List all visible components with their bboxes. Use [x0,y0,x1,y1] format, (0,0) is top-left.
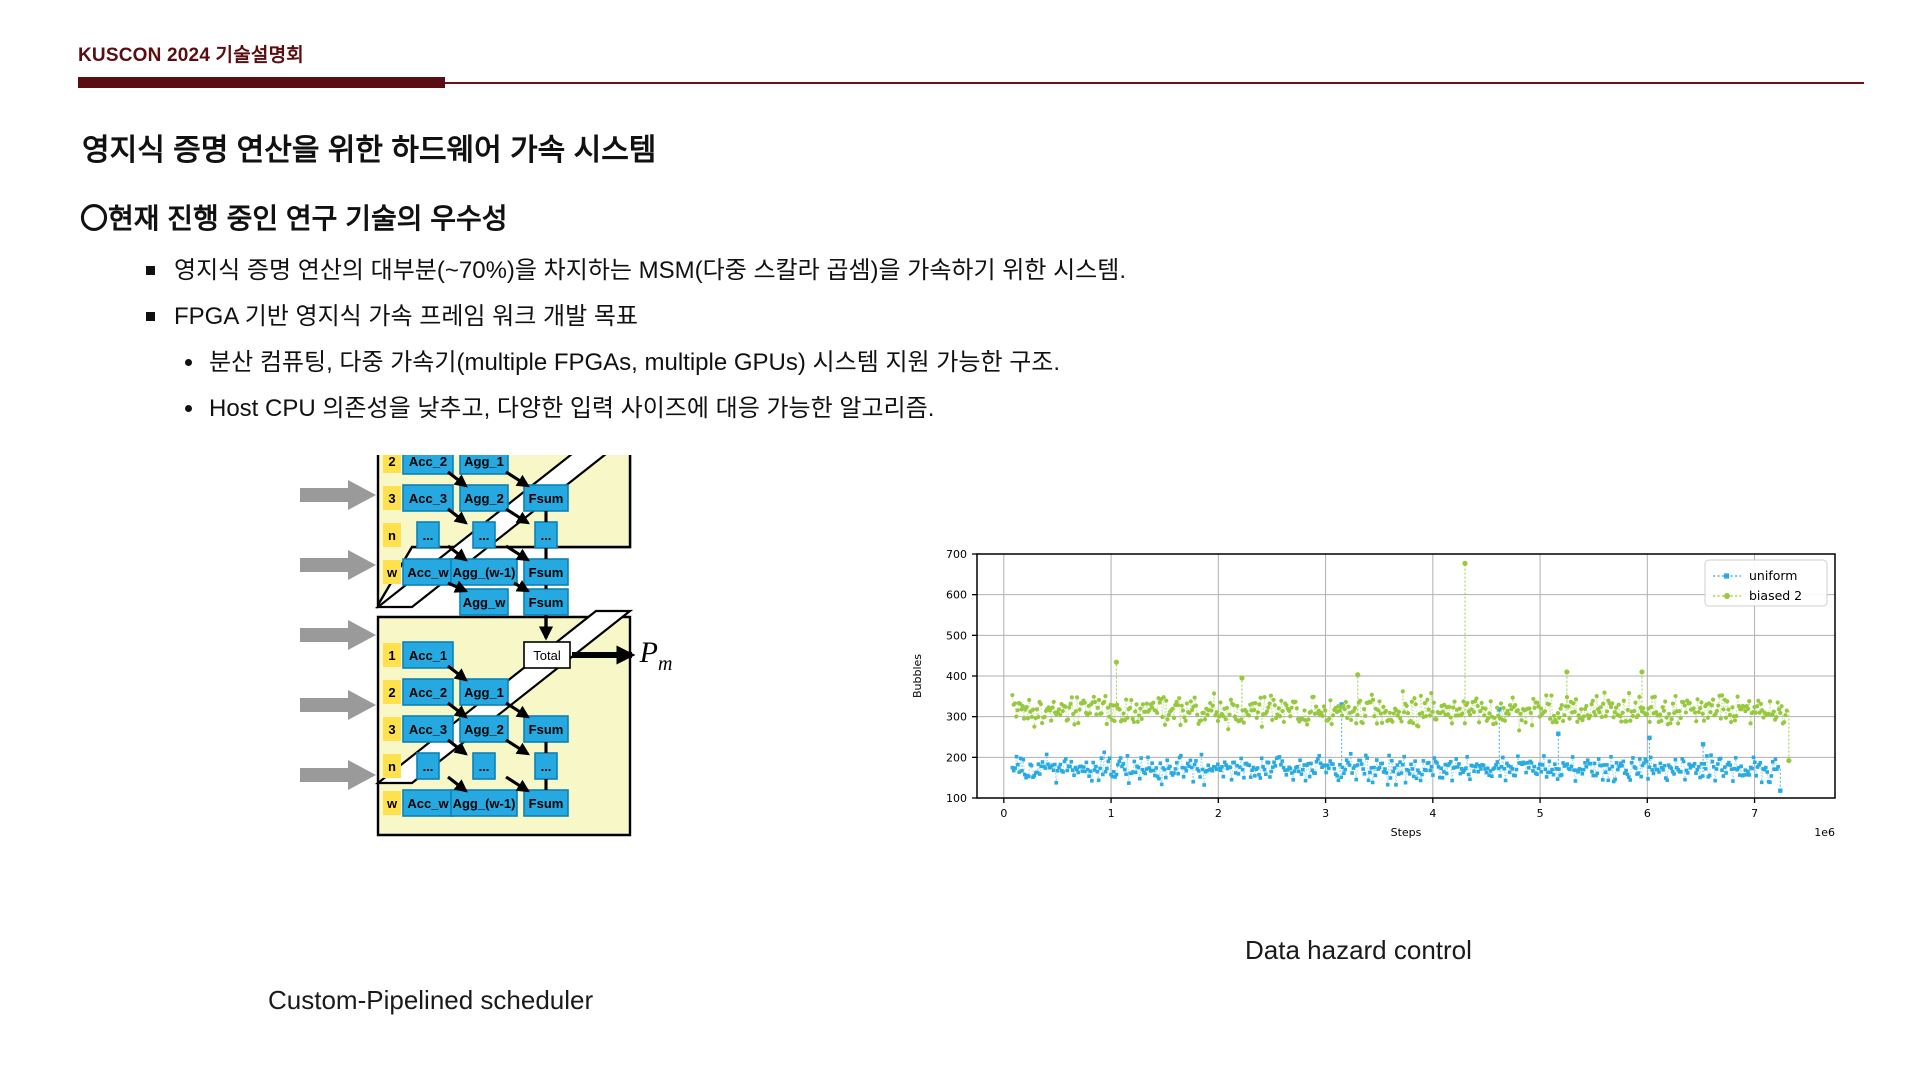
data-point [1624,769,1628,773]
data-point [1339,775,1343,779]
data-point [1257,702,1261,706]
spike-point-3 [1647,736,1651,740]
data-point [1266,705,1270,709]
data-point [1094,712,1098,716]
data-point [1615,761,1619,765]
data-point [1049,719,1053,723]
data-point [1253,774,1257,778]
data-point [1486,716,1490,720]
data-point [1458,706,1462,710]
panel-b-agg-1: Agg_1 [464,685,504,700]
data-point [1537,767,1541,771]
data-point [1280,709,1284,713]
data-point [1411,767,1415,771]
data-point [1753,760,1757,764]
data-point [1222,775,1226,779]
spike-point-5 [1639,669,1644,674]
bullet-text: 영지식 증명 연산의 대부분(~70%)을 차지하는 MSM(다중 스칼라 곱셈… [174,257,1126,284]
data-point [1072,722,1076,726]
data-point [1030,715,1034,719]
xtick-label-1: 1 [1108,807,1115,820]
data-point [1103,694,1107,698]
data-point [1211,704,1215,708]
data-point [1165,717,1169,721]
data-point [1346,705,1350,709]
data-point [1636,713,1640,717]
data-point [1574,697,1578,701]
data-point [1313,771,1317,775]
data-point [1075,695,1079,699]
data-point [1039,702,1043,706]
data-point [1406,769,1410,773]
data-point [1620,711,1624,715]
data-point [1674,758,1678,762]
data-point [1154,766,1158,770]
data-point [1719,757,1723,761]
data-point [1305,722,1309,726]
data-point [1067,705,1071,709]
data-point [1205,713,1209,717]
data-point [1725,699,1729,703]
spike-point-2 [1556,732,1560,736]
data-point [1415,777,1419,781]
panel-a-fsum-dots: ... [541,528,552,543]
data-point [1544,693,1548,697]
data-point [1290,706,1294,710]
data-point [1645,712,1649,716]
data-point [1212,691,1216,695]
panel-a-index-3: 3 [388,491,395,506]
data-point [1256,766,1260,770]
data-point [1465,701,1469,705]
data-point [1150,761,1154,765]
panel-b-fsum-dots: ... [541,759,552,774]
data-point [1065,769,1069,773]
data-point [1126,754,1130,758]
data-point [1616,768,1620,772]
data-point [1174,767,1178,771]
data-point [1061,709,1065,713]
data-point [1134,771,1138,775]
data-point [1619,719,1623,723]
data-point [1112,719,1116,723]
data-point [1501,756,1505,760]
data-point [1713,779,1717,783]
data-point [1556,711,1560,715]
legend-label-0: uniform [1749,568,1797,583]
data-point [1184,719,1188,723]
data-point [1242,776,1246,780]
data-point [1516,754,1520,758]
data-point [1053,763,1057,767]
data-point [1683,778,1687,782]
data-point [1040,721,1044,725]
spike-point-4 [1701,742,1705,746]
data-point [1406,711,1410,715]
data-point [1117,760,1121,764]
data-point [1693,710,1697,714]
data-point [1383,767,1387,771]
data-point [1330,722,1334,726]
input-arrow-4 [300,690,376,720]
data-point [1451,705,1455,709]
data-point [1269,694,1273,698]
data-point [1326,763,1330,767]
data-point [1445,772,1449,776]
section-heading: 〇현재 진행 중인 연구 기술의 우수성 [80,197,508,237]
data-point [1452,700,1456,704]
data-point [1517,728,1521,732]
data-point [1386,783,1390,787]
data-point [1013,766,1017,770]
data-point [1425,698,1429,702]
data-point [1424,769,1428,773]
panel-b-agg-dots: ... [479,759,490,774]
data-point [1163,768,1167,772]
data-point [1489,699,1493,703]
data-point [1182,775,1186,779]
data-point [1059,763,1063,767]
xtick-label-6: 6 [1644,807,1651,820]
data-point [1259,776,1263,780]
spike-point-0 [1114,660,1119,665]
data-point [1082,765,1086,769]
bullet-item-4: Host CPU 의존성을 낮추고, 다양한 입력 사이즈에 대응 가능한 알고… [185,388,934,423]
bullet-text: FPGA 기반 영지식 가속 프레임 워크 개발 목표 [174,303,638,330]
data-point [1052,769,1056,773]
data-point [1399,719,1403,723]
data-point [1256,710,1260,714]
data-point [1216,719,1220,723]
data-point [1178,723,1182,727]
data-point [1138,706,1142,710]
panel-a-fsum-2: Fsum [529,565,564,580]
panel-b-acc-3: Acc_3 [409,722,447,737]
data-point [1527,766,1531,770]
data-point [1633,701,1637,705]
data-point [1288,714,1292,718]
data-point [1530,723,1534,727]
data-point [1427,708,1431,712]
data-point [1211,769,1215,773]
data-point [1602,691,1606,695]
data-point [1492,716,1496,720]
data-point [1140,717,1144,721]
data-point [1430,710,1434,714]
data-point [1025,705,1029,709]
data-point [1502,767,1506,771]
data-point [1177,696,1181,700]
data-point [1611,765,1615,769]
spike-point-2 [1355,672,1360,677]
data-point [1591,699,1595,703]
data-point [1168,765,1172,769]
data-point [1091,761,1095,765]
data-point [1507,712,1511,716]
data-point [1726,707,1730,711]
data-point [1289,767,1293,771]
data-point [1683,703,1687,707]
data-point [1457,762,1461,766]
data-point [1467,773,1471,777]
data-point [1237,772,1241,776]
input-arrow-3 [300,620,376,650]
data-point [1472,710,1476,714]
data-point [1562,713,1566,717]
data-point [1015,755,1019,759]
data-point [1731,779,1735,783]
data-point [1472,769,1476,773]
data-point [1108,756,1112,760]
x-axis-label: Steps [1391,826,1422,839]
data-point [1650,768,1654,772]
data-point [1096,706,1100,710]
data-point [1389,776,1393,780]
data-point [1363,714,1367,718]
data-point [1189,699,1193,703]
data-point [1375,758,1379,762]
data-point [1172,771,1176,775]
data-point [1439,766,1443,770]
data-point [1708,774,1712,778]
data-point [1736,695,1740,699]
data-point [1132,720,1136,724]
data-point [1494,721,1498,725]
data-point [1119,756,1123,760]
data-point [1733,718,1737,722]
data-point [1679,770,1683,774]
data-point [1560,703,1564,707]
data-point [1227,713,1231,717]
data-point [1200,753,1204,757]
data-point [1115,702,1119,706]
data-point [1571,701,1575,705]
data-point [1449,715,1453,719]
data-point [1482,713,1486,717]
data-point [1390,720,1394,724]
panel-b-index-w: w [386,796,398,811]
data-point [1013,701,1017,705]
data-point [1604,714,1608,718]
data-point [1229,698,1233,702]
data-point [1570,765,1574,769]
data-point [1606,779,1610,783]
data-point [1580,772,1584,776]
data-point [1557,716,1561,720]
data-point [1711,698,1715,702]
data-point [1380,762,1384,766]
data-point [1476,704,1480,708]
data-point [1622,760,1626,764]
data-point [1670,717,1674,721]
data-point [1092,695,1096,699]
data-point [1663,764,1667,768]
data-point [1561,719,1565,723]
data-point [1137,713,1141,717]
data-point [1618,714,1622,718]
data-point [1759,702,1763,706]
data-point [1450,721,1454,725]
data-point [1764,766,1768,770]
panel-a-agg-1: Agg_1 [464,455,504,469]
data-point [1164,776,1168,780]
data-point [1617,703,1621,707]
data-point [1435,761,1439,765]
data-point [1464,766,1468,770]
data-point [1252,708,1256,712]
data-point [1331,713,1335,717]
data-point [1752,755,1756,759]
data-point [1515,768,1519,772]
data-point [1218,700,1222,704]
data-point [1658,712,1662,716]
data-point [1121,711,1125,715]
data-point [1672,772,1676,776]
data-point [1309,710,1313,714]
data-point [1627,691,1631,695]
data-point [1358,699,1362,703]
data-point [1552,714,1556,718]
data-point [1253,701,1257,705]
data-point [1124,772,1128,776]
data-point [1605,709,1609,713]
data-point [1450,779,1454,783]
data-point [1258,696,1262,700]
data-point [1301,768,1305,772]
data-point [1585,765,1589,769]
data-point [1298,758,1302,762]
data-point [1571,755,1575,759]
data-point [1185,769,1189,773]
data-point [1268,775,1272,779]
data-point [1195,713,1199,717]
data-point [1676,721,1680,725]
legend-label-1: biased 2 [1749,588,1802,603]
data-point [1498,774,1502,778]
data-point [1249,775,1253,779]
data-point [1302,708,1306,712]
data-point [1575,720,1579,724]
y-axis-label: Bubbles [911,654,924,698]
data-point [1657,770,1661,774]
data-point [1431,773,1435,777]
data-point [1698,706,1702,710]
data-point [1695,697,1699,701]
data-point [1728,713,1732,717]
data-point [1530,761,1534,765]
data-point [1400,771,1404,775]
ytick-label-500: 500 [946,629,967,642]
data-point [1194,759,1198,763]
data-point [1671,702,1675,706]
data-point [1665,778,1669,782]
data-point [1343,768,1347,772]
data-point [1230,778,1234,782]
data-point [1411,721,1415,725]
data-point [1038,772,1042,776]
data-point [1533,765,1537,769]
data-point [1377,699,1381,703]
data-point [1367,779,1371,783]
data-point [1365,756,1369,760]
data-point [1584,704,1588,708]
data-point [1697,765,1701,769]
data-point [1586,758,1590,762]
data-point [1394,783,1398,787]
data-point [1588,714,1592,718]
data-point [1663,699,1667,703]
data-point [1504,779,1508,783]
data-point [1031,708,1035,712]
data-point [1098,767,1102,771]
data-point [1539,706,1543,710]
data-point [1648,720,1652,724]
data-point [1202,711,1206,715]
data-point [1524,720,1528,724]
data-point [1628,778,1632,782]
data-point [1278,714,1282,718]
data-point [1239,757,1243,761]
data-point [1626,708,1630,712]
data-point [1768,699,1772,703]
data-point [1157,777,1161,781]
data-point [1087,774,1091,778]
data-point [1041,760,1045,764]
ytick-label-600: 600 [946,589,967,602]
data-point [1115,773,1119,777]
data-point [1068,765,1072,769]
data-point [1076,771,1080,775]
data-point [1068,702,1072,706]
panel-b-index-3: 3 [388,722,395,737]
data-point [1624,719,1628,723]
data-point [1083,701,1087,705]
data-point [1401,763,1405,767]
data-point [1597,710,1601,714]
data-point [1267,761,1271,765]
data-point [1138,777,1142,781]
data-point [1270,770,1274,774]
data-point [1241,768,1245,772]
data-point [1123,768,1127,772]
data-point [1145,702,1149,706]
data-point [1278,755,1282,759]
data-point [1255,716,1259,720]
data-point [1724,771,1728,775]
data-point [1175,761,1179,765]
data-point [1228,766,1232,770]
data-point [1247,713,1251,717]
data-point [1634,766,1638,770]
data-point [1102,700,1106,704]
data-point [1693,762,1697,766]
data-point [1422,759,1426,763]
data-point [1371,698,1375,702]
data-point [1340,713,1344,717]
data-point [1176,703,1180,707]
data-point [1021,704,1025,708]
data-point [1390,759,1394,763]
data-point [1668,721,1672,725]
data-point [1474,696,1478,700]
data-point [1125,716,1129,720]
data-point [1782,720,1786,724]
header-kicker: KUSCON 2024 기술설명회 [78,40,304,67]
data-point [1133,760,1137,764]
bullet-square-icon [146,312,155,321]
x-axis-exponent: 1e6 [1814,826,1835,839]
data-point [1724,716,1728,720]
